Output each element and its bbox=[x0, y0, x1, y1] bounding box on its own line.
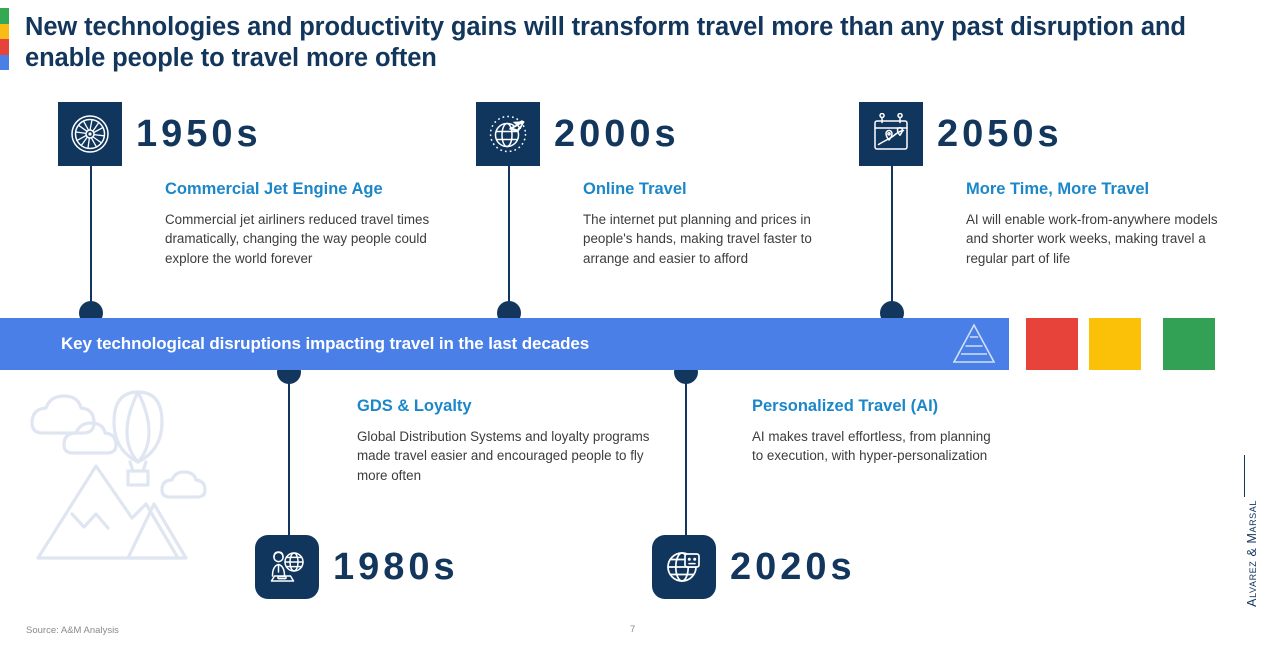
era-1950s: 1950s bbox=[58, 102, 262, 166]
key-disruptions-banner: Key technological disruptions impacting … bbox=[0, 318, 1009, 370]
calendar-map-pin-icon-tile bbox=[859, 102, 923, 166]
jet-turbine-icon bbox=[68, 112, 112, 156]
era-body: The internet put planning and prices in … bbox=[583, 210, 833, 268]
era-year-label: 2050s bbox=[937, 115, 1063, 153]
era-2000s: 2000s bbox=[476, 102, 680, 166]
travel-illustration-watermark bbox=[10, 378, 240, 593]
era-body: Commercial jet airliners reduced travel … bbox=[165, 210, 457, 268]
globe-robot-icon bbox=[663, 546, 705, 588]
slide-canvas: New technologies and productivity gains … bbox=[0, 0, 1277, 645]
era-text-1950s: Commercial Jet Engine Age Commercial jet… bbox=[165, 180, 457, 268]
era-text-2000s: Online Travel The internet put planning … bbox=[583, 180, 833, 268]
stripe-yellow bbox=[0, 24, 9, 40]
era-heading: Online Travel bbox=[583, 180, 833, 199]
era-year-label: 1950s bbox=[136, 115, 262, 153]
era-text-2020s: Personalized Travel (AI) AI makes travel… bbox=[752, 397, 997, 466]
stripe-green bbox=[0, 8, 9, 24]
jet-turbine-icon-tile bbox=[58, 102, 122, 166]
era-body: AI makes travel effortless, from plannin… bbox=[752, 427, 997, 466]
era-heading: Commercial Jet Engine Age bbox=[165, 180, 457, 199]
era-heading: GDS & Loyalty bbox=[357, 397, 652, 416]
era-text-2050s: More Time, More Travel AI will enable wo… bbox=[966, 180, 1226, 268]
connector-1980s bbox=[288, 372, 290, 542]
person-laptop-globe-icon bbox=[266, 546, 308, 588]
era-1980s: 1980s bbox=[255, 535, 459, 599]
brand-color-stripe bbox=[0, 8, 9, 70]
connector-2000s bbox=[508, 166, 510, 312]
person-laptop-globe-icon-tile bbox=[255, 535, 319, 599]
connector-2050s bbox=[891, 166, 893, 312]
globe-robot-icon-tile bbox=[652, 535, 716, 599]
stripe-blue bbox=[0, 55, 9, 71]
era-body: AI will enable work-from-anywhere models… bbox=[966, 210, 1226, 268]
connector-2020s bbox=[685, 372, 687, 542]
era-2020s: 2020s bbox=[652, 535, 856, 599]
era-year-label: 2020s bbox=[730, 548, 856, 586]
era-2050s: 2050s bbox=[859, 102, 1063, 166]
globe-plane-icon bbox=[486, 112, 530, 156]
calendar-map-pin-icon bbox=[870, 113, 912, 155]
era-text-1980s: GDS & Loyalty Global Distribution System… bbox=[357, 397, 652, 485]
era-year-label: 1980s bbox=[333, 548, 459, 586]
green-square bbox=[1163, 318, 1215, 370]
page-title: New technologies and productivity gains … bbox=[25, 12, 1195, 74]
rail-divider bbox=[1244, 455, 1245, 497]
era-heading: More Time, More Travel bbox=[966, 180, 1226, 199]
banner-label: Key technological disruptions impacting … bbox=[61, 334, 589, 354]
era-heading: Personalized Travel (AI) bbox=[752, 397, 997, 416]
pyramid-icon bbox=[951, 323, 997, 365]
page-number: 7 bbox=[630, 624, 635, 635]
era-year-label: 2000s bbox=[554, 115, 680, 153]
stripe-red bbox=[0, 39, 9, 55]
yellow-square bbox=[1089, 318, 1141, 370]
connector-1950s bbox=[90, 166, 92, 312]
company-name-vertical: Alvarez & Marsal bbox=[1245, 500, 1259, 607]
source-note: Source: A&M Analysis bbox=[26, 625, 119, 636]
era-body: Global Distribution Systems and loyalty … bbox=[357, 427, 652, 485]
red-square bbox=[1026, 318, 1078, 370]
globe-plane-icon-tile bbox=[476, 102, 540, 166]
